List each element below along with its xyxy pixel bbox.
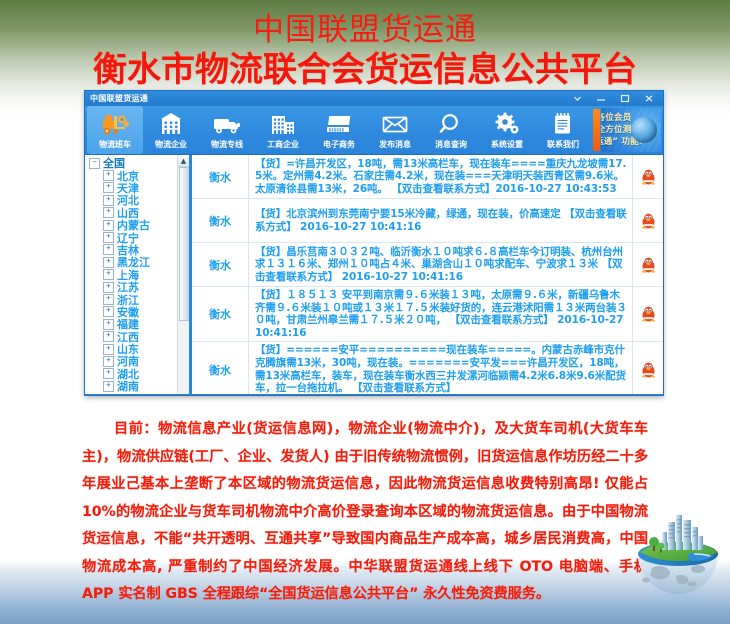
tree-toggle-icon[interactable]: +	[103, 207, 114, 218]
toolbar-label: 物流企业	[155, 139, 187, 150]
window-title: 中国联盟货运通	[88, 93, 148, 104]
tree-toggle-icon[interactable]: +	[103, 220, 114, 231]
notepad-icon	[551, 109, 575, 138]
qq-penguin-icon[interactable]	[632, 342, 663, 394]
toolbar-item-contact-us[interactable]: 联系我们	[535, 106, 591, 154]
forklift-icon	[100, 109, 130, 138]
window-maximize-icon[interactable]	[613, 92, 637, 105]
headline-line-1: 中国联盟货运通	[0, 12, 730, 48]
qq-penguin-icon[interactable]	[632, 287, 663, 341]
qq-penguin-icon[interactable]	[632, 243, 663, 286]
toolbar-item-publish-message[interactable]: 发布消息	[367, 106, 423, 154]
eco-globe-city-graphic	[632, 506, 724, 616]
toolbar-item-industrial-commercial[interactable]: 工商企业	[255, 106, 311, 154]
tree-toggle-icon[interactable]: +	[103, 170, 114, 181]
member-notice-banner[interactable]: 各位会员 要全方位测试 “货运通” 功能！	[601, 108, 661, 152]
toolbar-label: 消息查询	[435, 139, 467, 150]
tree-toggle-icon[interactable]: +	[103, 182, 114, 193]
window-controls	[565, 91, 661, 106]
qq-penguin-icon[interactable]	[632, 199, 663, 242]
tree-toggle-icon[interactable]: +	[103, 294, 114, 305]
window-titlebar[interactable]: 中国联盟货运通	[85, 91, 663, 106]
ecommerce-icon	[324, 109, 354, 138]
tree-toggle-icon[interactable]: +	[103, 344, 114, 355]
tree-scrollbar[interactable]: ▲	[177, 155, 189, 394]
envelope-icon	[381, 109, 409, 138]
message-text: 【货】北京滨州到东莞南宁要15米冷藏，绿通，现在装，价高速定 【双击查看联系方式…	[249, 199, 632, 242]
window-menu-arrow-icon[interactable]	[565, 92, 589, 105]
magnifier-icon	[438, 109, 464, 138]
page-headline: 中国联盟货运通 衡水市物流联合会货运信息公共平台	[0, 12, 730, 90]
scrollbar-thumb[interactable]	[179, 167, 190, 321]
toolbar-label: 工商企业	[267, 139, 299, 150]
tree-toggle-icon[interactable]: +	[103, 306, 114, 317]
tree-toggle-icon[interactable]: +	[103, 232, 114, 243]
tree-toggle-icon[interactable]: +	[103, 331, 114, 342]
tree-item-province[interactable]: +湖南	[87, 380, 189, 392]
office-icon	[269, 109, 297, 138]
message-city: 衡水	[192, 287, 249, 341]
region-tree-list: − 全国 +北京+天津+河北+山西+内蒙古+辽宁+吉林+黑龙江+上海+江苏+浙江…	[85, 155, 189, 392]
toolbar-label: 物流班车	[99, 139, 131, 150]
tree-toggle-icon[interactable]: +	[103, 368, 114, 379]
toolbar-item-logistics-company[interactable]: 物流企业	[143, 106, 199, 154]
region-tree-panel: − 全国 +北京+天津+河北+山西+内蒙古+辽宁+吉林+黑龙江+上海+江苏+浙江…	[85, 155, 192, 394]
main-toolbar: 物流班车 物流企业	[85, 106, 663, 154]
message-list-panel[interactable]: 衡水【货】=许昌开发区，18吨，需13米高栏车，现在装车====重庆九龙坡需17…	[192, 155, 663, 394]
tree-toggle-icon[interactable]: +	[103, 356, 114, 367]
message-row[interactable]: 衡水【货】昌乐莒南３０３２吨、临沂衡水１０吨求６.８高栏车今订明装、杭州台州求１…	[192, 243, 663, 287]
toolbar-item-message-query[interactable]: 消息查询	[423, 106, 479, 154]
tree-toggle-icon[interactable]: +	[103, 381, 114, 392]
toolbar-item-logistics-route[interactable]: 物流专线	[199, 106, 255, 154]
toolbar-label: 物流专线	[211, 139, 243, 150]
tree-item-label: 湖南	[117, 378, 139, 394]
tree-toggle-icon[interactable]: +	[103, 282, 114, 293]
truck-icon	[212, 109, 242, 138]
message-text: 【货】１８５１３ 安平到南京需９.６米装１３吨，太原需９.６米，新疆乌鲁木齐需９…	[249, 287, 632, 341]
banner-line-1: 各位会员	[601, 112, 631, 124]
message-row[interactable]: 衡水【货】======安平==========现在装车=====。内蒙古赤峰市克…	[192, 342, 663, 394]
message-text: 【货】======安平==========现在装车=====。内蒙古赤峰市克什克…	[249, 342, 632, 394]
window-content: − 全国 +北京+天津+河北+山西+内蒙古+辽宁+吉林+黑龙江+上海+江苏+浙江…	[85, 154, 663, 394]
scroll-up-arrow-icon[interactable]: ▲	[178, 155, 189, 167]
message-row[interactable]: 衡水【货】北京滨州到东莞南宁要15米冷藏，绿通，现在装，价高速定 【双击查看联系…	[192, 199, 663, 243]
window-minimize-icon[interactable]	[589, 92, 613, 105]
message-row[interactable]: 衡水【货】=许昌开发区，18吨，需13米高栏车，现在装车====重庆九龙坡需17…	[192, 155, 663, 199]
tree-toggle-icon[interactable]: +	[103, 195, 114, 206]
promo-paragraph: 目前：物流信息产业(货运信息网)，物流企业(物流中介)，及大货车司机(大货车车主…	[82, 416, 648, 609]
application-window: 中国联盟货运通	[84, 90, 664, 396]
message-city: 衡水	[192, 199, 249, 242]
toolbar-label: 系统设置	[491, 139, 523, 150]
message-text: 【货】昌乐莒南３０３２吨、临沂衡水１０吨求６.８高栏车今订明装、杭州台州求１３１…	[249, 243, 632, 286]
toolbar-divider	[593, 109, 600, 151]
banner-globe-icon	[631, 117, 657, 143]
tree-toggle-icon[interactable]: −	[89, 158, 100, 169]
toolbar-label: 联系我们	[547, 139, 579, 150]
toolbar-item-ecommerce[interactable]: 电子商务	[311, 106, 367, 154]
toolbar-label: 发布消息	[379, 139, 411, 150]
message-city: 衡水	[192, 155, 249, 198]
message-city: 衡水	[192, 243, 249, 286]
headline-line-2: 衡水市物流联合会货运信息公共平台	[0, 50, 730, 90]
message-city: 衡水	[192, 342, 249, 394]
building-icon	[158, 109, 184, 138]
tree-toggle-icon[interactable]: +	[103, 269, 114, 280]
tree-toggle-icon[interactable]: +	[103, 257, 114, 268]
toolbar-item-system-settings[interactable]: 系统设置	[479, 106, 535, 154]
toolbar-label: 电子商务	[323, 139, 355, 150]
qq-penguin-icon[interactable]	[632, 155, 663, 198]
tree-toggle-icon[interactable]: +	[103, 319, 114, 330]
message-row[interactable]: 衡水【货】１８５１３ 安平到南京需９.６米装１３吨，太原需９.６米，新疆乌鲁木齐…	[192, 287, 663, 342]
toolbar-item-logistics-shuttle[interactable]: 物流班车	[87, 106, 143, 154]
window-close-icon[interactable]	[637, 92, 661, 105]
tree-toggle-icon[interactable]: +	[103, 244, 114, 255]
gear-icon	[493, 109, 521, 138]
message-text: 【货】=许昌开发区，18吨，需13米高栏车，现在装车====重庆九龙坡需17.5…	[249, 155, 632, 198]
